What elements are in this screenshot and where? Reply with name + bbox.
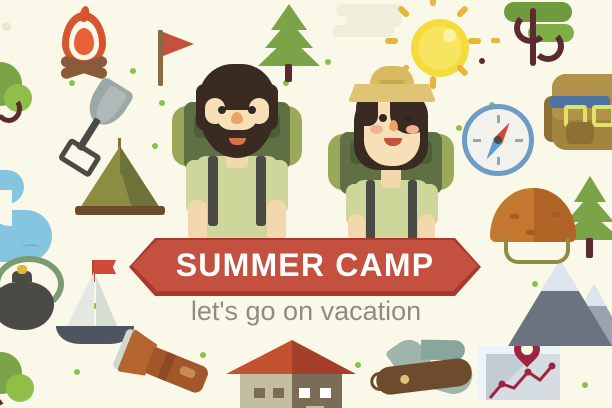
round-tree-icon bbox=[0, 352, 46, 408]
helmet-icon bbox=[490, 188, 580, 266]
pack-strap-left bbox=[366, 180, 375, 242]
eye-right bbox=[248, 106, 256, 114]
eye-left bbox=[218, 106, 226, 114]
round-tree-icon bbox=[0, 62, 44, 144]
hiker-woman bbox=[328, 62, 454, 242]
arm-left bbox=[188, 200, 207, 242]
map-pin-icon bbox=[478, 346, 564, 404]
pocket-knife-icon bbox=[369, 341, 487, 408]
banner-title: SUMMER CAMP bbox=[176, 247, 435, 284]
cheek-right bbox=[406, 125, 419, 134]
cheek-left bbox=[370, 125, 383, 134]
decor-dot bbox=[69, 80, 75, 86]
eye-left bbox=[379, 114, 387, 122]
campfire-icon bbox=[62, 12, 112, 78]
arm-right bbox=[267, 200, 286, 242]
lake-icon bbox=[0, 170, 52, 262]
decor-dot bbox=[74, 369, 80, 375]
pack-strap-left bbox=[208, 156, 218, 226]
nose bbox=[231, 112, 243, 124]
hiker-man bbox=[172, 60, 302, 242]
subtitle: let's go on vacation bbox=[0, 296, 612, 327]
decor-dot bbox=[130, 68, 136, 74]
flashlight-icon bbox=[117, 328, 220, 405]
stylized-tree-icon bbox=[494, 0, 576, 66]
house-icon bbox=[240, 340, 356, 408]
hat-brim bbox=[348, 84, 436, 102]
compass-icon bbox=[462, 104, 538, 180]
pack-strap-right bbox=[408, 180, 417, 242]
decor-dot bbox=[582, 382, 588, 388]
nose bbox=[389, 120, 398, 131]
backpack-icon bbox=[542, 74, 612, 162]
tent-icon bbox=[80, 138, 170, 218]
decor-dot bbox=[159, 100, 165, 106]
summer-camp-poster: SUMMER CAMP let's go on vacation bbox=[0, 0, 612, 408]
hat-band bbox=[380, 80, 404, 84]
eye-right bbox=[404, 114, 412, 122]
decor-dot bbox=[2, 22, 11, 31]
banner-ribbon: SUMMER CAMP bbox=[132, 240, 478, 291]
decor-dot bbox=[479, 58, 485, 64]
cloud-icon bbox=[332, 25, 402, 39]
pack-strap-right bbox=[256, 156, 266, 226]
banner: SUMMER CAMP bbox=[129, 238, 481, 296]
